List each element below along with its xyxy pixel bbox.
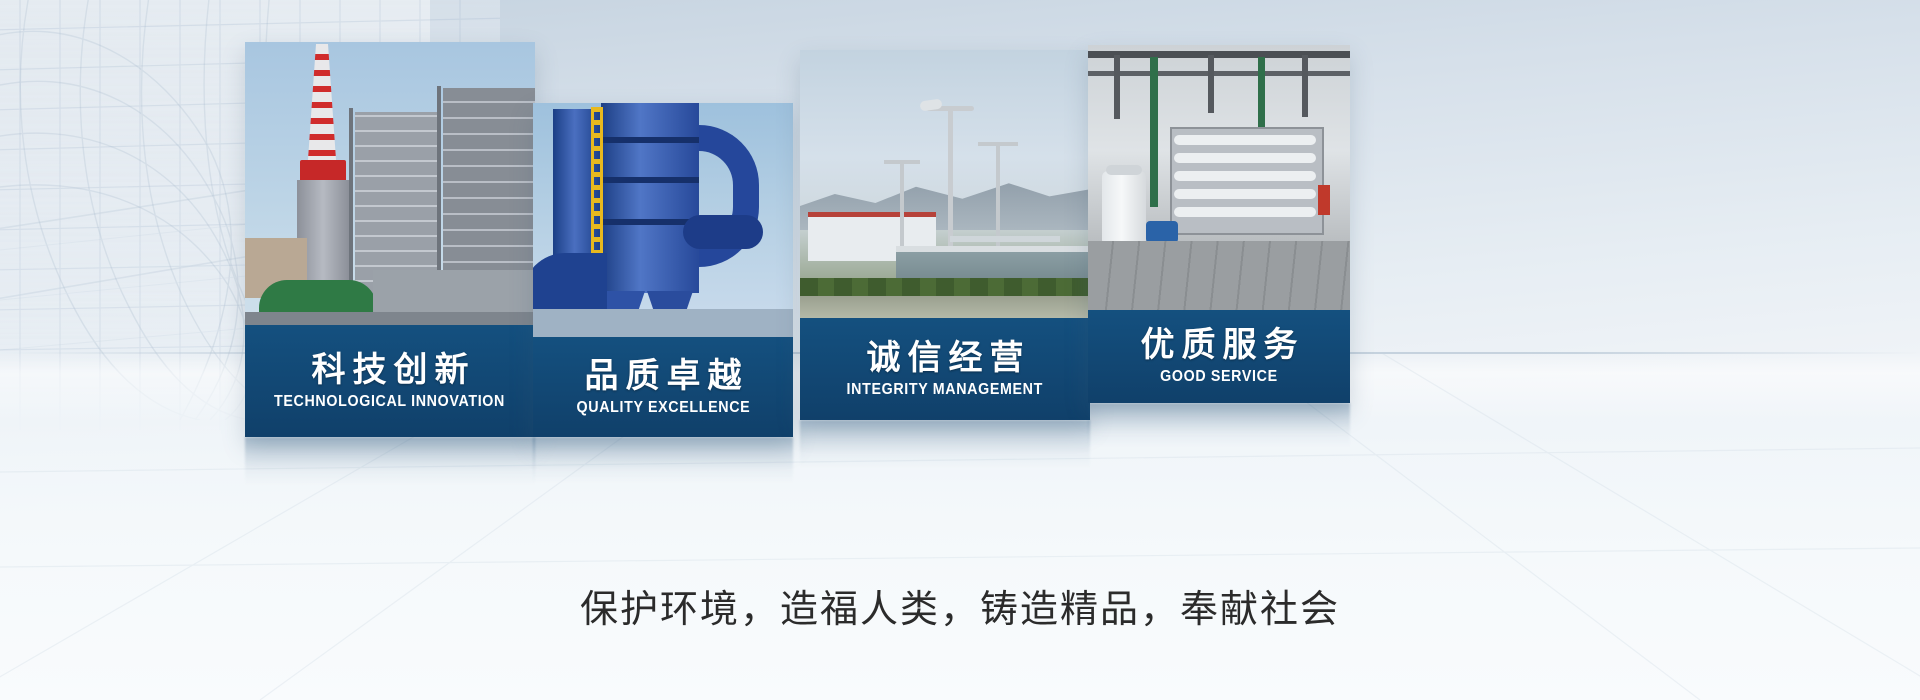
feature-card-technological-innovation[interactable]: 科技创新 TECHNOLOGICAL INNOVATION [245, 42, 535, 437]
feature-card-quality-excellence[interactable]: 品质卓越 QUALITY EXCELLENCE [533, 103, 793, 437]
card-caption-technological-innovation: 科技创新 TECHNOLOGICAL INNOVATION [245, 325, 535, 437]
card-caption-integrity-management: 诚信经营 INTEGRITY MANAGEMENT [800, 318, 1090, 420]
card-caption-good-service: 优质服务 GOOD SERVICE [1088, 310, 1350, 403]
card-title-cn-technological-innovation: 科技创新 [305, 351, 476, 389]
card-title-en-technological-innovation: TECHNOLOGICAL INNOVATION [275, 393, 506, 412]
card-photo-good-service [1088, 45, 1350, 310]
card-title-cn-quality-excellence: 品质卓越 [578, 357, 749, 395]
card-title-en-quality-excellence: QUALITY EXCELLENCE [576, 399, 750, 418]
card-photo-quality-excellence [533, 103, 793, 337]
card-photo-integrity-management [800, 50, 1090, 318]
card-photo-technological-innovation [245, 42, 535, 325]
company-banner: 科技创新 TECHNOLOGICAL INNOVATION [0, 0, 1920, 700]
feature-card-good-service[interactable]: 优质服务 GOOD SERVICE [1088, 45, 1350, 403]
card-title-en-integrity-management: INTEGRITY MANAGEMENT [847, 381, 1043, 400]
banner-tagline: 保护环境，造福人类，铸造精品，奉献社会 [0, 578, 1920, 633]
card-title-cn-good-service: 优质服务 [1134, 326, 1305, 364]
card-title-en-good-service: GOOD SERVICE [1160, 368, 1278, 387]
feature-card-row: 科技创新 TECHNOLOGICAL INNOVATION [0, 0, 1920, 560]
feature-card-integrity-management[interactable]: 诚信经营 INTEGRITY MANAGEMENT [800, 50, 1090, 420]
card-reflection-technological-innovation [245, 437, 535, 485]
card-reflection-good-service [1088, 403, 1350, 447]
card-title-cn-integrity-management: 诚信经营 [860, 339, 1031, 377]
card-caption-quality-excellence: 品质卓越 QUALITY EXCELLENCE [533, 337, 793, 437]
card-reflection-integrity-management [800, 420, 1090, 468]
card-reflection-quality-excellence [533, 437, 793, 483]
